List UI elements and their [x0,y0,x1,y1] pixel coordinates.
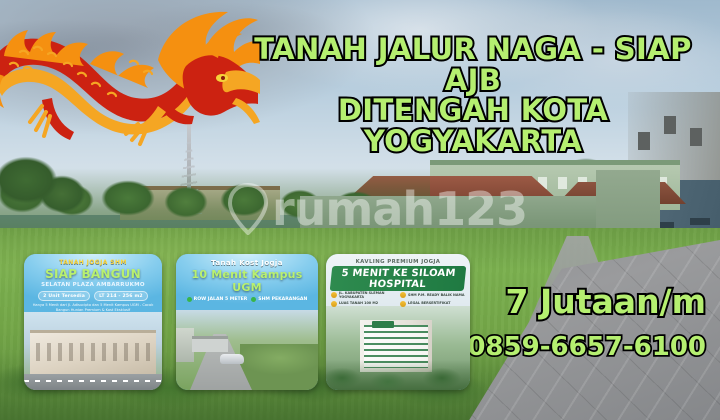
card-3-feature-2-label: SHM P.M. READY BALIK NAMA [408,293,464,297]
card-1-badge-2: LT 214 - 256 m2 [94,291,148,301]
card-1-badges: 2 Unit Tersedia LT 214 - 256 m2 [29,291,157,301]
card-1-photo [24,312,162,390]
tree-left [0,150,88,236]
card-1-kicker: TANAH JOGJA SHM [29,259,157,266]
card-2-header: Tanah Kost Jogja 10 Menit Kampus UGM ROW… [176,254,318,302]
card-1-subtitle: SELATAN PLAZA AMBARRUKMO [29,282,157,288]
thumbnail-card-row: TANAH JOGJA SHM SIAP BANGUN SELATAN PLAZ… [24,254,470,392]
card-2-shed [192,336,228,352]
card-1-title: SIAP BANGUN [29,267,157,281]
dragon-icon [0,2,260,152]
card-3-kicker: KAVLING PREMIUM JOGJA [331,259,465,265]
thumbnail-card-3[interactable]: KAVLING PREMIUM JOGJA 5 MENIT KE SILOAM … [326,254,470,390]
card-1-badge-1: 2 Unit Tersedia [38,291,90,301]
headline-line-1: TANAH JALUR NAGA - SIAP AJB [250,34,696,95]
card-2-badge-1-label: ROW JALAN 5 METER [194,297,248,302]
card-2-car [220,354,244,364]
card-2-badge-2-label: SHM PEKARANGAN [258,297,307,302]
card-2-field [240,344,318,390]
card-3-features: JL. KABUPATEN SLEMAN YOGYAKARTA SHM P.M.… [326,288,470,307]
thumbnail-card-1[interactable]: TANAH JOGJA SHM SIAP BANGUN SELATAN PLAZ… [24,254,162,390]
phone-number[interactable]: 0859-6657-6100 [467,332,706,362]
card-3-feature-1: JL. KABUPATEN SLEMAN YOGYAKARTA [331,291,396,300]
check-icon [187,297,192,302]
card-3-feature-4: LEGAL BERSERTIFIKAT [400,301,465,307]
headline-line-2: DITENGAH KOTA YOGYAKARTA [250,95,696,156]
card-2-kicker: Tanah Kost Jogja [181,259,313,267]
badge-icon [400,292,406,298]
card-3-feature-1-label: JL. KABUPATEN SLEMAN YOGYAKARTA [339,291,396,300]
check-icon [251,297,256,302]
card-2-badge-2: SHM PEKARANGAN [251,297,307,302]
badge-icon [331,301,337,307]
card-2-title: 10 Menit Kampus UGM [181,268,313,294]
card-1-road [24,374,162,390]
card-1-header: TANAH JOGJA SHM SIAP BANGUN SELATAN PLAZ… [24,254,162,314]
headline: TANAH JALUR NAGA - SIAP AJB DITENGAH KOT… [250,34,696,157]
badge-icon [331,292,337,298]
badge-icon [400,301,406,307]
card-3-feature-3: LUAS TANAH 100 M2 [331,301,396,307]
card-3-trees [326,360,470,390]
thumbnail-card-2[interactable]: Tanah Kost Jogja 10 Menit Kampus UGM ROW… [176,254,318,390]
card-3-feature-3-label: LUAS TANAH 100 M2 [339,301,378,305]
hospital-sign [372,321,394,328]
property-ad-banner: rumah123 TANAH JALUR NAGA - SIAP AJB DIT… [0,0,720,420]
card-2-badge-1: ROW JALAN 5 METER [187,297,248,302]
card-2-photo [176,310,318,390]
card-3-photo [326,306,470,390]
shopping-mall-building [30,330,156,374]
card-1-note: Hanya 5 Menit dari Jl. Adisucipto dan 5 … [29,303,157,314]
card-3-feature-2: SHM P.M. READY BALIK NAMA [400,291,465,300]
card-3-feature-4-label: LEGAL BERSERTIFIKAT [408,301,450,305]
card-2-badges: ROW JALAN 5 METER SHM PEKARANGAN [181,297,313,302]
card-3-header: KAVLING PREMIUM JOGJA 5 MENIT KE SILOAM … [326,254,470,292]
price-text: 7 Jutaan/m [506,282,706,321]
